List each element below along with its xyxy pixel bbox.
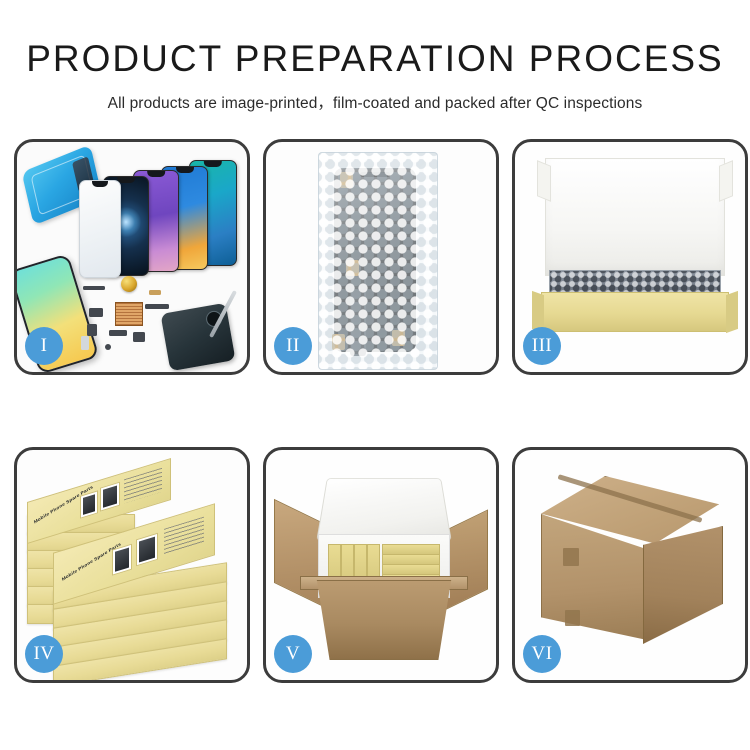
page-title: PRODUCT PREPARATION PROCESS [0,40,750,77]
page-header: PRODUCT PREPARATION PROCESS All products… [0,0,750,113]
copper-mesh-icon [115,302,143,326]
speaker-coil-icon [121,276,137,292]
notch-icon [204,161,222,167]
box-window [136,533,158,567]
step-badge-2: II [274,327,312,365]
process-step-panel-3: III [512,139,748,375]
bubble-wrap-bag-icon [318,152,438,370]
yellow-box-base-icon [541,292,729,332]
process-step-panel-5: V [263,447,499,683]
step-badge-1: I [25,327,63,365]
sealed-carton-group [527,470,735,660]
notch-icon [117,177,135,183]
carton-body-icon [304,580,464,660]
notch-icon [147,171,165,177]
part-bracket-icon [133,332,145,342]
phone-lineup-group [77,158,247,278]
page-subtitle: All products are image-printed，film-coat… [0,91,750,113]
part-flex-icon [109,330,127,336]
part-sim-tray-icon [81,336,89,350]
box-stack-group: Mobile Phone Spare Parts Mobile Phone Sp… [25,468,245,668]
step-badge-3: III [523,327,561,365]
process-step-grid: I II III [14,139,736,683]
step-badge-6: VI [523,635,561,673]
box-window [100,482,120,512]
box-window [112,544,132,576]
part-strip-icon [83,286,105,290]
part-connector-icon [87,324,97,336]
carton-tape-patch-icon [563,548,579,566]
box-window [80,490,98,519]
box-spec-lines [164,517,204,555]
carton-tape-patch-icon [565,610,580,626]
process-step-panel-2: II [263,139,499,375]
process-step-panel-1: I [14,139,250,375]
box-spec-lines [124,468,162,504]
product-preparation-infographic: PRODUCT PREPARATION PROCESS All products… [0,0,750,750]
white-box-lid-icon [545,158,725,276]
part-screw-icon [105,344,111,350]
step-badge-4: IV [25,635,63,673]
process-step-panel-6: VI [512,447,748,683]
part-chip-icon [89,308,103,317]
notch-icon [92,181,108,187]
spare-parts-group [79,274,247,372]
part-button-icon [149,290,161,295]
foam-cooler-lid-icon [316,478,452,541]
process-step-panel-4: Mobile Phone Spare Parts Mobile Phone Sp… [14,447,250,683]
carton-side-face-icon [643,526,723,644]
notch-icon [176,167,194,173]
step-badge-5: V [274,635,312,673]
tempered-glass-icon [79,180,121,278]
part-cable-icon [145,304,169,309]
